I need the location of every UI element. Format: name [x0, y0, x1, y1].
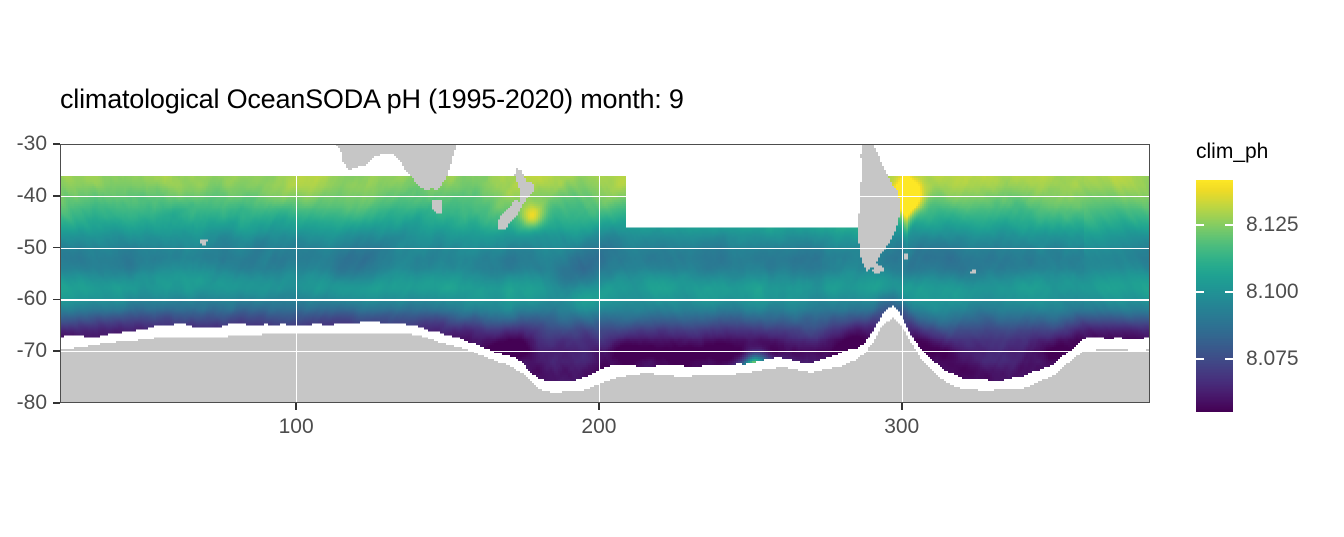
y-axis-tick-label: -50: [17, 236, 47, 260]
x-axis-tick-label: 100: [279, 415, 314, 439]
colorbar-tick: [1196, 358, 1204, 360]
y-axis-tick: [53, 143, 60, 145]
ph-raster-layer: [60, 144, 1150, 403]
y-axis-tick-label: -30: [17, 132, 47, 156]
colorbar[interactable]: [1196, 180, 1233, 412]
x-axis-tick: [901, 403, 903, 410]
colorbar-tick: [1196, 291, 1204, 293]
x-axis-tick-label: 200: [581, 415, 616, 439]
gridline-horizontal: [60, 196, 1150, 197]
y-axis-tick-label: -60: [17, 287, 47, 311]
y-axis-tick: [53, 350, 60, 352]
page-title: climatological OceanSODA pH (1995-2020) …: [60, 84, 684, 115]
colorbar-tick: [1225, 291, 1233, 293]
x-axis-tick: [598, 403, 600, 410]
y-axis-tick: [53, 247, 60, 249]
gridline-horizontal: [60, 299, 1150, 300]
map-panel[interactable]: [60, 144, 1150, 403]
gridline-horizontal: [60, 144, 1150, 145]
plot-root: climatological OceanSODA pH (1995-2020) …: [0, 0, 1344, 537]
y-axis-tick-label: -70: [17, 339, 47, 363]
gridline-vertical: [599, 144, 600, 403]
y-axis-tick: [53, 299, 60, 301]
colorbar-tick: [1225, 224, 1233, 226]
colorbar-gradient: [1196, 180, 1233, 412]
gridline-horizontal: [60, 248, 1150, 249]
colorbar-tick: [1196, 224, 1204, 226]
colorbar-tick-label: 8.125: [1246, 213, 1299, 237]
x-axis-tick: [295, 403, 297, 410]
x-axis-tick-label: 300: [884, 415, 919, 439]
legend-title: clim_ph: [1196, 140, 1268, 164]
colorbar-tick-label: 8.075: [1246, 347, 1299, 371]
y-axis-tick: [53, 402, 60, 404]
gridline-horizontal: [60, 351, 1150, 352]
y-axis-tick-label: -80: [17, 391, 47, 415]
y-axis-tick: [53, 195, 60, 197]
y-axis-tick-label: -40: [17, 184, 47, 208]
colorbar-tick: [1225, 358, 1233, 360]
colorbar-tick-label: 8.100: [1246, 280, 1299, 304]
gridline-vertical: [296, 144, 297, 403]
gridline-vertical: [902, 144, 903, 403]
